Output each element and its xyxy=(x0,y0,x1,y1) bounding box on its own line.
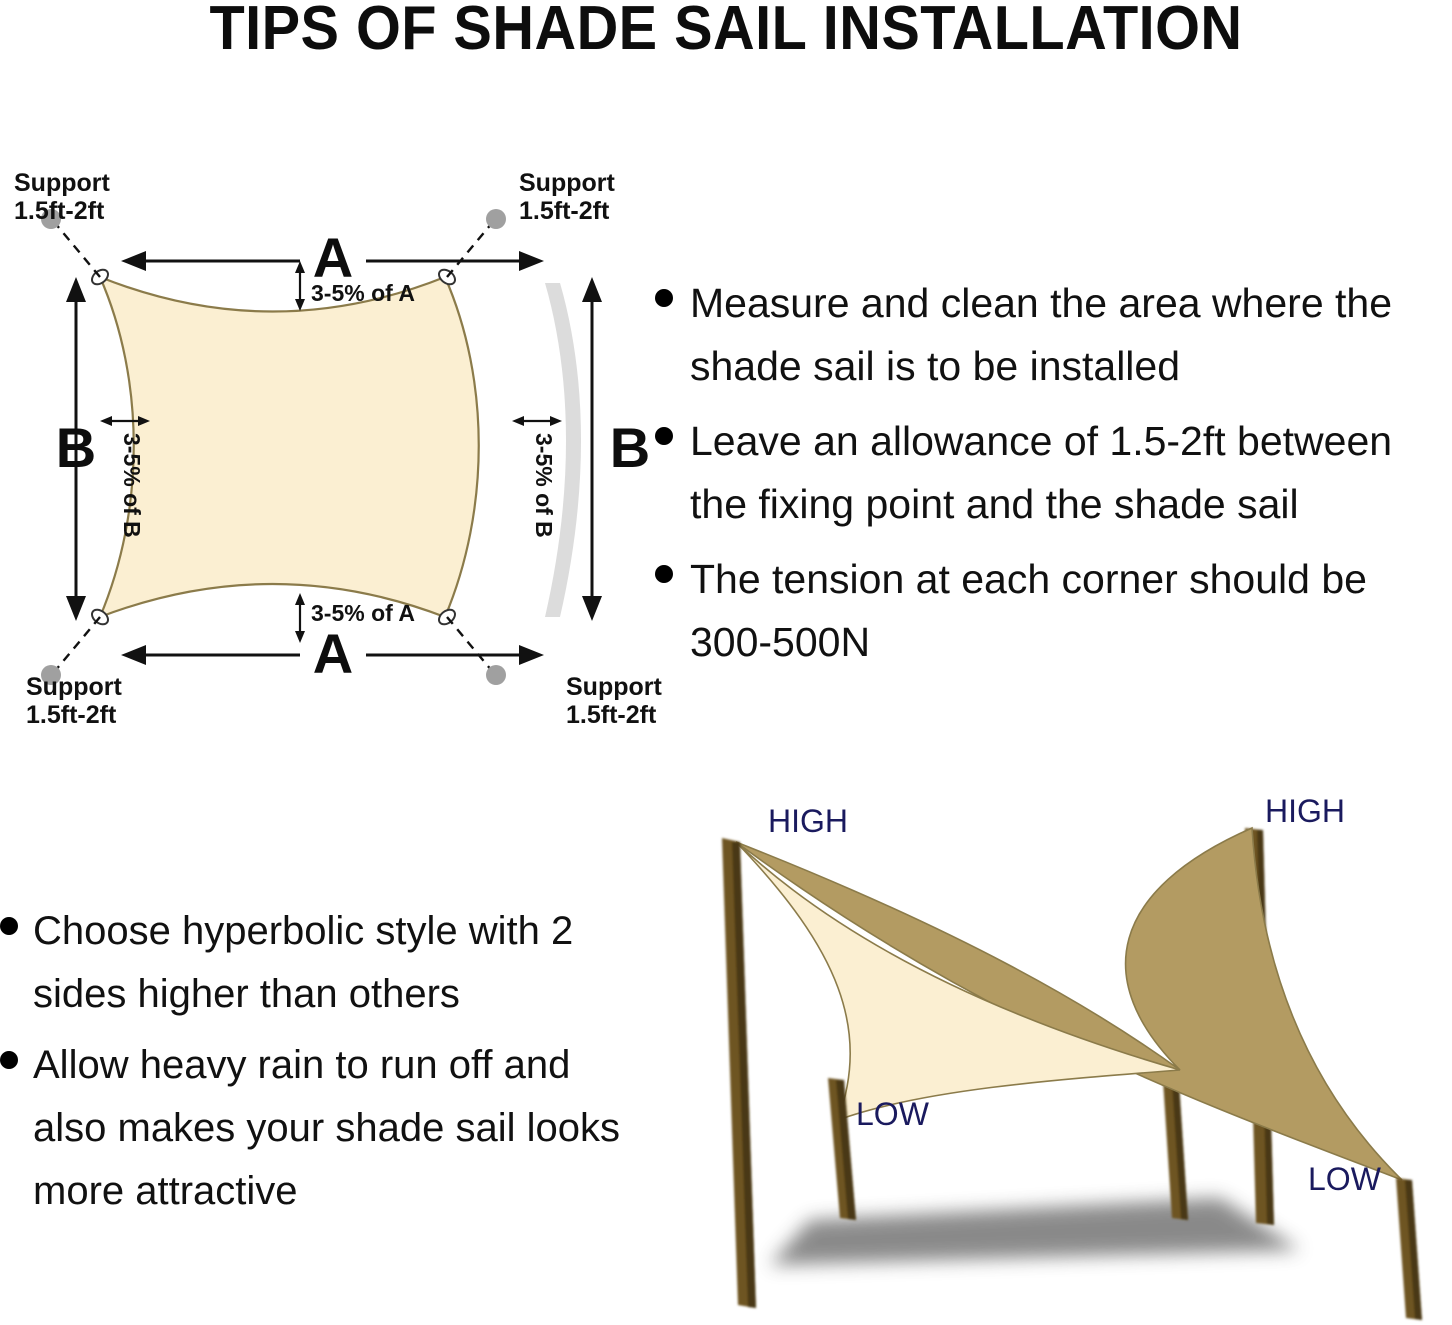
tether-bottom-left xyxy=(55,617,100,671)
list-item: The tension at each corner should be 300… xyxy=(655,548,1445,674)
arrowhead-left xyxy=(121,645,146,665)
list-item: Allow heavy rain to run off and also mak… xyxy=(0,1034,630,1223)
support-label-line1: Support xyxy=(14,169,110,197)
label-low-left: LOW xyxy=(856,1096,930,1132)
tip-text: The tension at each corner should be 300… xyxy=(690,548,1445,674)
curve-a-label: 3-5% of A xyxy=(311,600,415,626)
support-label-line1: Support xyxy=(566,673,662,701)
pole-high-left xyxy=(722,838,756,1308)
page-title: TIPS OF SHADE SAIL INSTALLATION xyxy=(51,0,1401,61)
support-label-line2: 1.5ft-2ft xyxy=(26,701,117,729)
list-item: Leave an allowance of 1.5-2ft between th… xyxy=(655,410,1445,536)
hyperbolic-tips-list: Choose hyperbolic style with 2 sides hig… xyxy=(0,900,630,1231)
dimension-a-label: A xyxy=(313,622,353,685)
curve-b-label: 3-5% of B xyxy=(119,433,145,538)
support-label-line2: 1.5ft-2ft xyxy=(566,701,657,729)
tip-text: Choose hyperbolic style with 2 sides hig… xyxy=(33,900,630,1026)
arrowhead-right xyxy=(519,251,544,271)
label-high-right: HIGH xyxy=(1265,793,1345,829)
installation-tips-list: Measure and clean the area where the sha… xyxy=(655,272,1445,686)
arrowhead-down xyxy=(582,596,602,621)
bullet-dot-icon xyxy=(655,565,673,583)
bullet-dot-icon xyxy=(0,917,18,935)
curve-b-label: 3-5% of B xyxy=(531,433,557,538)
dimension-b-right: B xyxy=(582,277,650,621)
support-label-line2: 1.5ft-2ft xyxy=(14,197,105,225)
arrowhead-down xyxy=(66,596,86,621)
dimension-b-label: B xyxy=(610,416,650,479)
arrowhead-right xyxy=(519,645,544,665)
curve-callout-b-right: 3-5% of B xyxy=(512,416,562,538)
sail-membrane xyxy=(100,277,479,617)
arrowhead-up xyxy=(582,277,602,302)
dimension-a-bottom: A xyxy=(121,622,544,685)
support-dot-bottom-right xyxy=(486,665,506,685)
bullet-dot-icon xyxy=(655,427,673,445)
support-label-line1: Support xyxy=(26,673,122,701)
hyperbolic-shade-sail-illustration: HIGH HIGH LOW LOW xyxy=(660,780,1452,1325)
tether-bottom-right xyxy=(447,617,492,671)
infographic-page: TIPS OF SHADE SAIL INSTALLATION xyxy=(0,0,1452,1325)
list-item: Measure and clean the area where the sha… xyxy=(655,272,1445,398)
support-label-top-right: Support 1.5ft-2ft xyxy=(519,169,615,225)
support-label-line1: Support xyxy=(519,169,615,197)
label-high-left: HIGH xyxy=(768,803,848,839)
tip-text: Leave an allowance of 1.5-2ft between th… xyxy=(690,410,1445,536)
tether-top-left xyxy=(55,223,100,277)
arrowhead-up xyxy=(66,277,86,302)
label-low-right: LOW xyxy=(1308,1161,1382,1197)
tip-text: Measure and clean the area where the sha… xyxy=(690,272,1445,398)
dimension-b-label: B xyxy=(56,416,96,479)
dimension-b-left: B xyxy=(56,277,96,621)
list-item: Choose hyperbolic style with 2 sides hig… xyxy=(0,900,630,1026)
support-label-line2: 1.5ft-2ft xyxy=(519,197,610,225)
pole-low-right xyxy=(1396,1178,1422,1320)
support-label-bottom-left: Support 1.5ft-2ft xyxy=(26,673,122,729)
support-dot-top-right xyxy=(486,209,506,229)
shade-sail-plan-diagram: Support 1.5ft-2ft Support 1.5ft-2ft Supp… xyxy=(0,165,660,735)
support-label-top-left: Support 1.5ft-2ft xyxy=(14,169,110,225)
support-label-bottom-right: Support 1.5ft-2ft xyxy=(566,673,662,729)
arrowhead-left xyxy=(121,251,146,271)
bullet-dot-icon xyxy=(0,1051,18,1069)
tip-text: Allow heavy rain to run off and also mak… xyxy=(33,1034,630,1223)
tether-top-right xyxy=(447,223,492,277)
curve-a-label: 3-5% of A xyxy=(311,280,415,306)
curve-callout-b-left: 3-5% of B xyxy=(100,416,150,538)
bullet-dot-icon xyxy=(655,289,673,307)
